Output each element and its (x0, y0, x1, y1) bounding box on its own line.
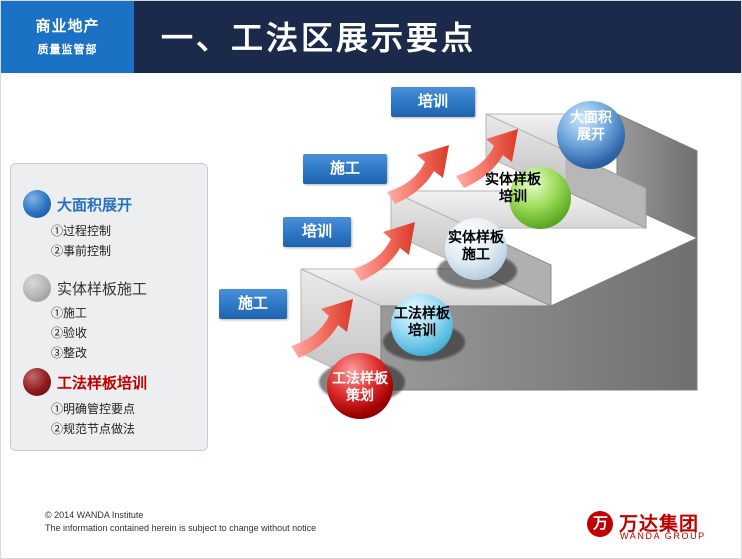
step-label-peixun-1[interactable]: 培训 (283, 217, 351, 247)
wanda-logo-glyph: 万 (593, 515, 608, 533)
node-label-line2: 施工 (431, 246, 521, 263)
node-label-shiti-shigong: 实体样板 施工 (431, 229, 521, 263)
footer-copyright: © 2014 WANDA Institute (45, 509, 316, 522)
step-label-shigong-1[interactable]: 施工 (219, 289, 287, 319)
wanda-logo-en: WANDA GROUP (620, 531, 706, 541)
stairs-graphic (1, 1, 742, 559)
node-label-shiti-peixun: 实体样板 培训 (467, 171, 559, 205)
slide-canvas: 商业地产 质量监管部 一、工法区展示要点 大面积展开 ①过程控制 ②事前控制 实… (0, 0, 742, 559)
wanda-logo-mark-icon: 万 (587, 511, 613, 537)
node-label-line1: 实体样板 (431, 229, 521, 246)
node-label-damianji: 大面积 展开 (553, 109, 629, 143)
node-label-gongfa-cehua: 工法样板 策划 (317, 370, 403, 404)
node-label-line2: 展开 (553, 126, 629, 143)
node-label-line1: 实体样板 (467, 171, 559, 188)
node-label-line1: 工法样板 (379, 305, 465, 322)
footer-legal: © 2014 WANDA Institute The information c… (45, 509, 316, 535)
node-label-line2: 培训 (379, 322, 465, 339)
wanda-logo: 万 万达集团 WANDA GROUP (587, 509, 717, 543)
node-label-gongfa-peixun: 工法样板 培训 (379, 305, 465, 339)
node-label-line2: 培训 (467, 188, 559, 205)
node-label-line1: 大面积 (553, 109, 629, 126)
step-label-shigong-2[interactable]: 施工 (303, 154, 387, 184)
node-label-line2: 策划 (317, 387, 403, 404)
footer-disclaimer: The information contained herein is subj… (45, 522, 316, 535)
step-label-peixun-2[interactable]: 培训 (391, 87, 475, 117)
node-label-line1: 工法样板 (317, 370, 403, 387)
